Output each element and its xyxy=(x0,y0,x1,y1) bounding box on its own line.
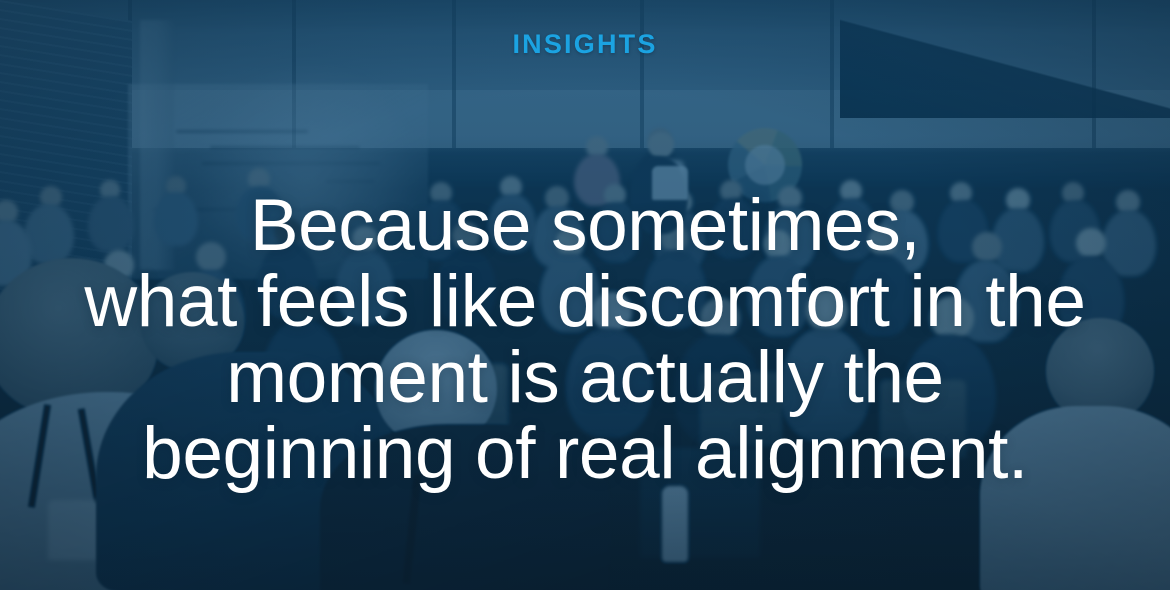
quote-text: Because sometimes, what feels like disco… xyxy=(0,188,1170,492)
insights-quote-slide: INSIGHTS Because sometimes, what feels l… xyxy=(0,0,1170,590)
slide-content: INSIGHTS Because sometimes, what feels l… xyxy=(0,0,1170,590)
quote-line-4: beginning of real alignment. xyxy=(24,416,1146,492)
quote-line-3: moment is actually the xyxy=(24,340,1146,416)
quote-line-2: what feels like discomfort in the xyxy=(24,264,1146,340)
eyebrow-label: INSIGHTS xyxy=(512,31,657,58)
quote-line-1: Because sometimes, xyxy=(24,188,1146,264)
